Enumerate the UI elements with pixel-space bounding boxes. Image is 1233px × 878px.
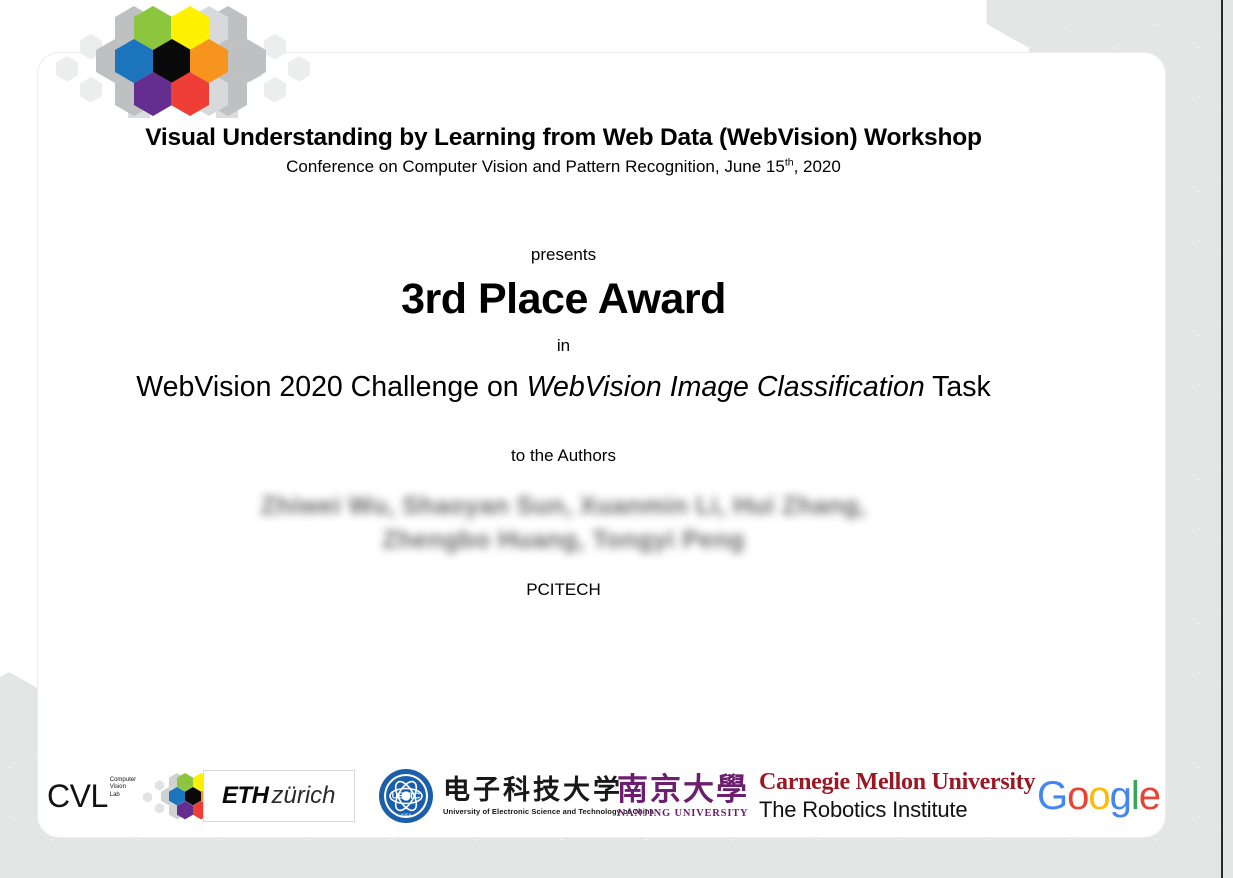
- eth-bold-text: ETH: [222, 782, 269, 810]
- challenge-task-italic: WebVision Image Classification: [527, 371, 925, 403]
- background-hexagon: [1203, 28, 1233, 116]
- conference-subtitle: Conference on Computer Vision and Patter…: [0, 157, 1127, 177]
- uestc-seal-icon: UESTC 1956: [377, 767, 435, 825]
- background-hexagon: [1203, 172, 1233, 260]
- cmu-inner: Carnegie Mellon University The Robotics …: [759, 770, 1035, 822]
- nju-english-name: NANJING UNIVERSITY: [617, 808, 749, 819]
- google-letter-4: l: [1131, 774, 1139, 818]
- svg-text:UESTC: UESTC: [392, 791, 420, 801]
- sponsor-logo-uestc: UESTC 1956 电子科技大学 University of Electron…: [377, 752, 654, 840]
- background-hexagon: [1203, 316, 1233, 404]
- google-letter-2: o: [1088, 774, 1109, 818]
- challenge-task-line: WebVision 2020 Challenge on WebVision Im…: [0, 370, 1127, 404]
- award-title: 3rd Place Award: [0, 276, 1127, 323]
- sponsor-logo-strip: CVL Computer Vision Lab: [37, 752, 1164, 840]
- challenge-suffix: Task: [925, 371, 991, 403]
- sponsor-logo-google: Google: [1037, 752, 1160, 840]
- google-letter-0: G: [1037, 774, 1067, 818]
- eth-wordmark-box: ETH zürich: [203, 770, 355, 822]
- sponsor-logo-nanjing-university: 南京大學 NANJING UNIVERSITY: [617, 752, 749, 840]
- background-hexagon: [1075, 0, 1153, 44]
- cvl-letters: CVL: [47, 778, 108, 815]
- webvision-hexagon-logo: [50, 3, 312, 118]
- svg-text:1956: 1956: [400, 814, 411, 820]
- presents-label: presents: [0, 245, 1127, 265]
- background-hexagon: [1203, 460, 1233, 548]
- certificate-page: Visual Understanding by Learning from We…: [0, 0, 1233, 878]
- cmu-subtitle: The Robotics Institute: [759, 798, 1035, 822]
- cvl-sub-line: Vision: [110, 784, 136, 791]
- google-letter-5: e: [1139, 774, 1160, 818]
- nju-inner: 南京大學 NANJING UNIVERSITY: [617, 774, 749, 819]
- conference-prefix: Conference on Computer Vision and Patter…: [286, 157, 785, 176]
- page-right-border: [1221, 0, 1223, 878]
- in-label: in: [0, 336, 1127, 356]
- background-hexagon: [1203, 748, 1233, 836]
- nju-chinese-name: 南京大學: [617, 774, 749, 805]
- sponsor-logo-cmu: Carnegie Mellon University The Robotics …: [759, 752, 1035, 840]
- workshop-title: Visual Understanding by Learning from We…: [0, 124, 1127, 153]
- cvl-sub-line: Computer: [110, 777, 136, 784]
- eth-light-text: zürich: [272, 782, 336, 810]
- background-hexagon: [990, 0, 1068, 44]
- authors-label: to the Authors: [0, 446, 1127, 466]
- sponsor-logo-eth: ETH zürich: [203, 752, 355, 840]
- uestc-inner: UESTC 1956 电子科技大学 University of Electron…: [377, 767, 654, 825]
- cmu-title: Carnegie Mellon University: [759, 770, 1035, 795]
- author-line: Zhiwei Wu, Shaoyan Sun, Xuanmin Li, Hui …: [0, 489, 1127, 524]
- author-line: Zhengbo Huang, Tongyi Peng: [0, 523, 1127, 558]
- header-text-block: Visual Understanding by Learning from We…: [0, 124, 1127, 177]
- author-names-redacted: Zhiwei Wu, Shaoyan Sun, Xuanmin Li, Hui …: [0, 489, 1127, 558]
- challenge-prefix: WebVision 2020 Challenge on: [136, 371, 526, 403]
- cvl-subtitle: Computer Vision Lab: [110, 772, 136, 799]
- cvl-sub-line: Lab: [110, 792, 136, 799]
- conference-ordinal: th: [785, 156, 794, 168]
- team-name: PCITECH: [0, 580, 1127, 600]
- award-body: presents 3rd Place Award in WebVision 20…: [0, 245, 1127, 600]
- background-hexagon: [1203, 604, 1233, 692]
- conference-suffix: , 2020: [794, 157, 841, 176]
- google-wordmark: Google: [1037, 776, 1160, 816]
- background-hexagon: [0, 748, 6, 836]
- google-letter-1: o: [1067, 774, 1088, 818]
- google-letter-3: g: [1110, 774, 1131, 818]
